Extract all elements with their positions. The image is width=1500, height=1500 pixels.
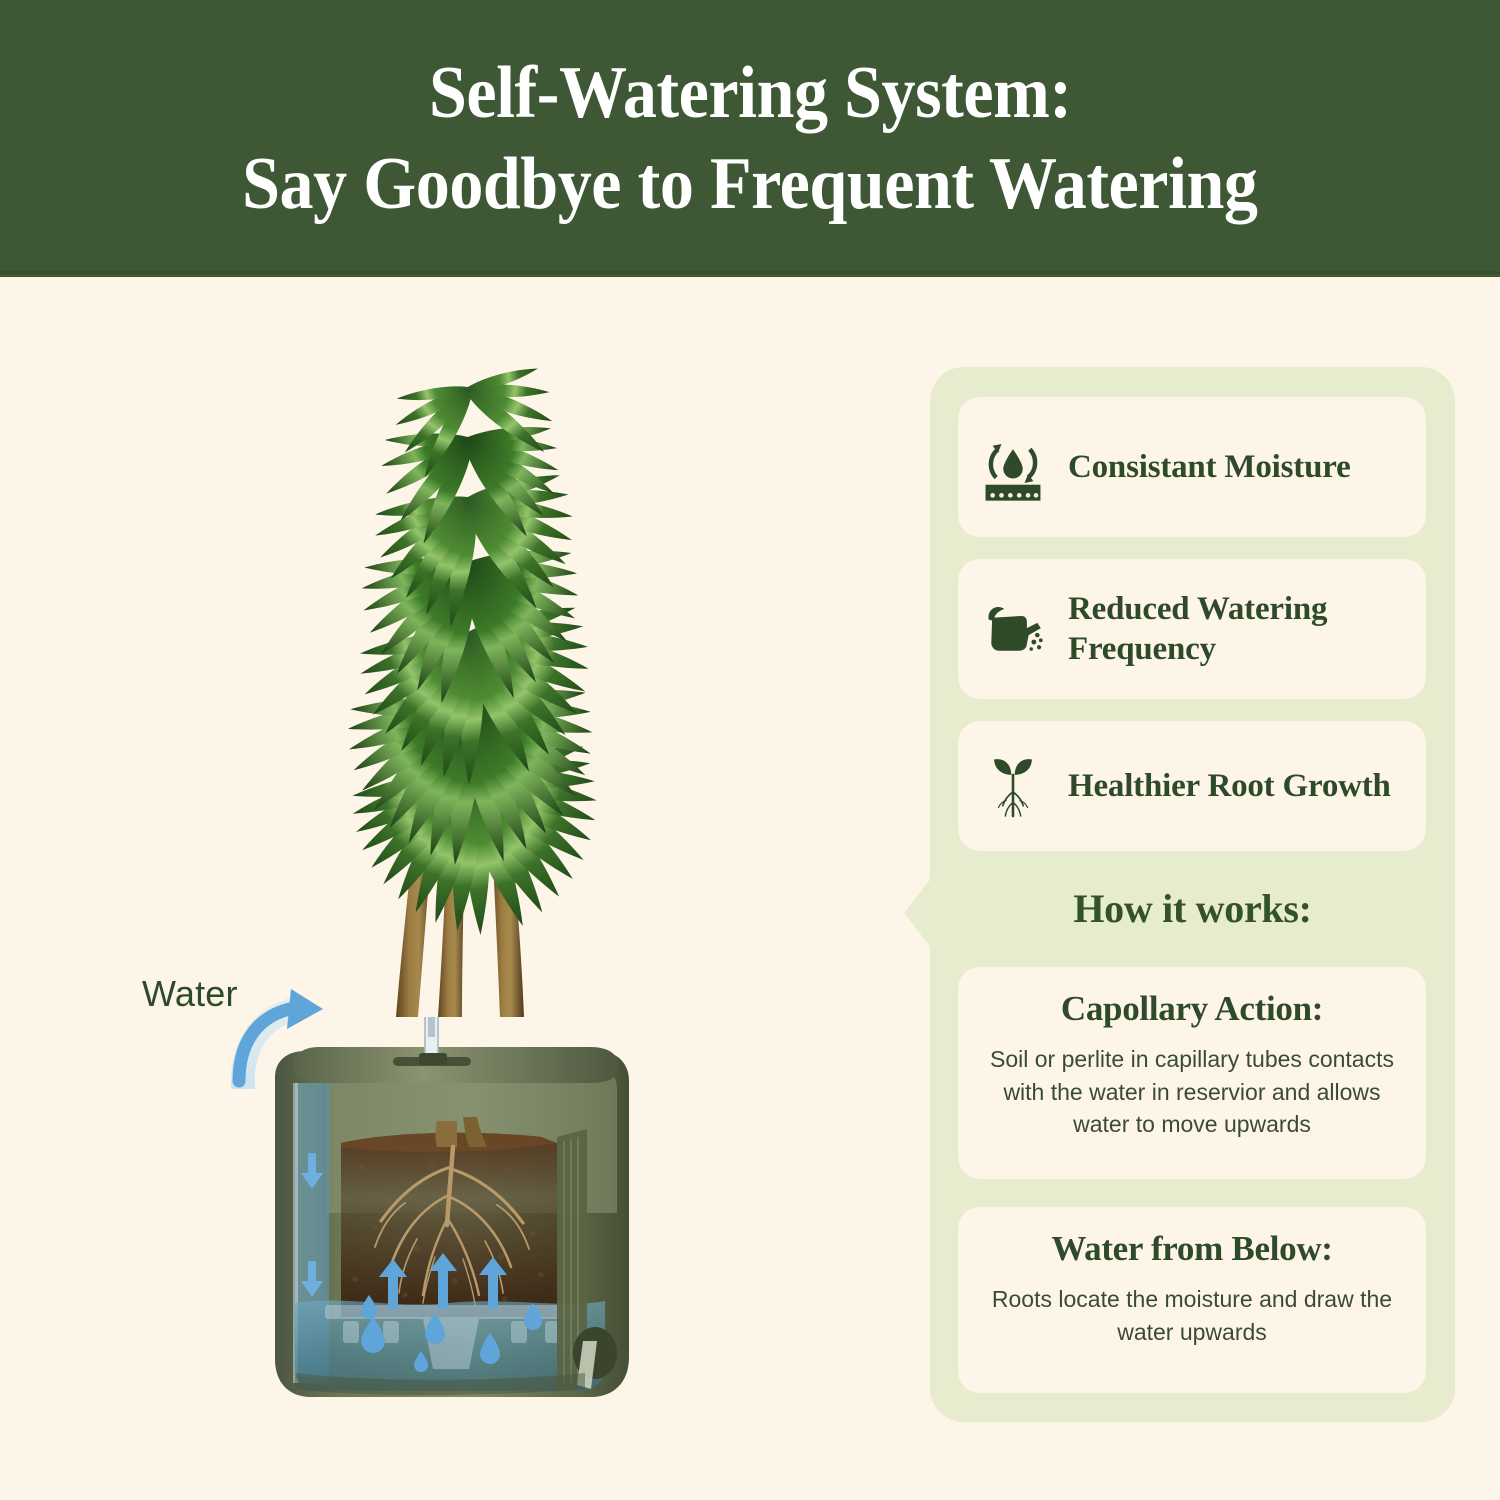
step-card-capollary-action[interactable]: Capollary Action: Soil or perlite in cap… bbox=[958, 967, 1426, 1179]
watering-can-icon bbox=[958, 602, 1068, 656]
dracaena-plant-graphic bbox=[150, 317, 790, 1017]
seedling-roots-icon bbox=[958, 751, 1068, 821]
feature-label: Consistant Moisture bbox=[1068, 447, 1365, 487]
step-card-water-from-below[interactable]: Water from Below: Roots locate the moist… bbox=[958, 1207, 1426, 1393]
feature-card-consistant-moisture[interactable]: Consistant Moisture bbox=[958, 397, 1426, 537]
water-drop-recycle-soil-icon bbox=[958, 433, 1068, 501]
step-body: Soil or perlite in capillary tubes conta… bbox=[984, 1043, 1400, 1141]
infographic-page: Self-Watering System: Say Goodbye to Fre… bbox=[0, 0, 1500, 1500]
water-level-indicator-tube bbox=[419, 1017, 447, 1065]
step-title: Water from Below: bbox=[984, 1229, 1400, 1269]
how-it-works-heading: How it works: bbox=[930, 885, 1455, 932]
page-title-line-2: Say Goodbye to Frequent Watering bbox=[242, 146, 1257, 223]
step-title: Capollary Action: bbox=[984, 989, 1400, 1029]
plant-leaves bbox=[347, 368, 596, 935]
feature-card-reduced-watering-frequency[interactable]: Reduced Watering Frequency bbox=[958, 559, 1426, 699]
water-label: Water bbox=[142, 973, 238, 1015]
self-watering-planter-cross-section bbox=[265, 1017, 645, 1417]
benefits-panel: Consistant Moisture Reduced Watering Fre… bbox=[930, 367, 1455, 1422]
step-body: Roots locate the moisture and draw the w… bbox=[984, 1283, 1400, 1348]
product-illustration: Water bbox=[0, 277, 930, 1500]
feature-label: Healthier Root Growth bbox=[1068, 766, 1405, 806]
header-divider bbox=[0, 271, 1500, 274]
panel-pointer-tail bbox=[904, 877, 932, 949]
feature-label: Reduced Watering Frequency bbox=[1068, 589, 1426, 670]
header-banner: Self-Watering System: Say Goodbye to Fre… bbox=[0, 0, 1500, 277]
page-title-line-1: Self-Watering System: bbox=[429, 55, 1072, 132]
feature-card-healthier-root-growth[interactable]: Healthier Root Growth bbox=[958, 721, 1426, 851]
